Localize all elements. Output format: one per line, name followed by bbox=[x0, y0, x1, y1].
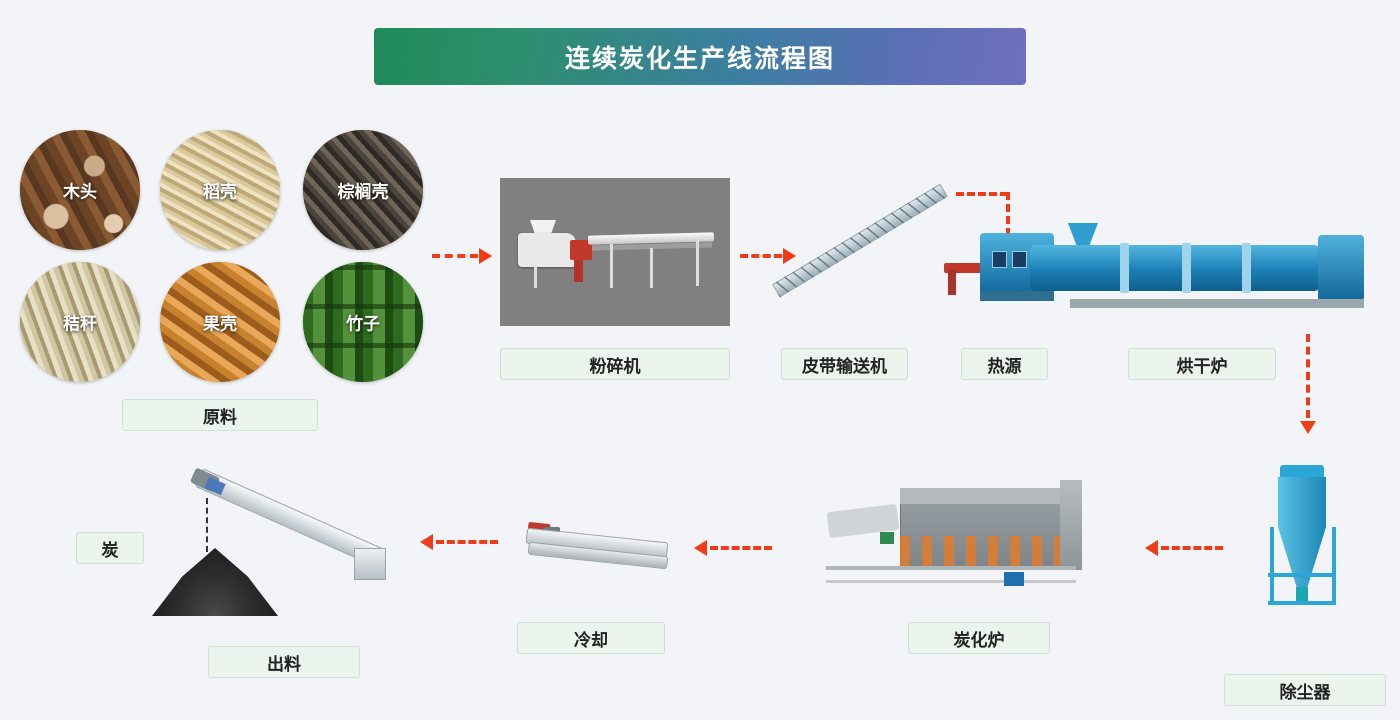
crusher-label: 粉碎机 bbox=[500, 348, 730, 380]
furnace-control-box bbox=[1004, 572, 1024, 586]
raw-material-bamboo: 竹子 bbox=[303, 262, 423, 382]
crusher-motor-stand bbox=[574, 260, 583, 282]
dryer-ring-3 bbox=[1242, 243, 1251, 293]
raw-materials-group-label: 原料 bbox=[122, 399, 318, 431]
furnace-top-band bbox=[900, 488, 1060, 504]
furnace-frame-lower bbox=[826, 580, 1076, 583]
dust-collector-label: 除尘器 bbox=[1224, 674, 1386, 706]
raw-material-straw-label: 秸秆 bbox=[20, 310, 140, 335]
charcoal-label: 炭 bbox=[76, 532, 144, 564]
discharge-outlet-head bbox=[354, 548, 386, 580]
crusher-image bbox=[500, 178, 730, 326]
furnace-burner-stripes bbox=[900, 536, 1060, 566]
carbonization-furnace-image bbox=[808, 480, 1098, 600]
heat-source-burner-stand bbox=[948, 269, 956, 295]
discharge-label: 出料 bbox=[208, 646, 360, 678]
cooling-conveyor-image bbox=[520, 505, 680, 595]
crusher-body bbox=[518, 233, 576, 267]
dust-collector-cylinder bbox=[1278, 477, 1326, 527]
dryer-support-frame bbox=[1070, 299, 1320, 308]
dryer-ring-1 bbox=[1120, 243, 1129, 293]
raw-material-nut-shell: 果壳 bbox=[160, 262, 280, 382]
cooling-label: 冷却 bbox=[517, 622, 665, 654]
dryer-discharge-head bbox=[1318, 235, 1364, 301]
furnace-feed-motor bbox=[880, 532, 894, 544]
discharge-drop-line bbox=[206, 498, 208, 552]
raw-material-nut-shell-label: 果壳 bbox=[160, 310, 280, 335]
heat-source-window-1 bbox=[992, 251, 1007, 268]
heat-source-window-2 bbox=[1012, 251, 1027, 268]
raw-material-wood-label: 木头 bbox=[20, 178, 140, 203]
heat-source-label: 热源 bbox=[961, 348, 1048, 380]
page-title-banner: 连续炭化生产线流程图 bbox=[374, 28, 1026, 85]
raw-material-palm-shell-label: 棕榈壳 bbox=[303, 178, 423, 203]
raw-material-rice-husk-label: 稻壳 bbox=[160, 178, 280, 203]
carbonization-furnace-label: 炭化炉 bbox=[908, 622, 1050, 654]
raw-material-rice-husk: 稻壳 bbox=[160, 130, 280, 250]
dust-collector-discharge bbox=[1296, 587, 1308, 601]
raw-material-straw: 秸秆 bbox=[20, 262, 140, 382]
flowchart-canvas: 连续炭化生产线流程图 木头 稻壳 棕榈壳 秸秆 果壳 竹子 原料 bbox=[0, 0, 1400, 720]
raw-material-bamboo-label: 竹子 bbox=[303, 310, 423, 335]
dryer-drum bbox=[1030, 245, 1320, 291]
dryer-ring-2 bbox=[1182, 243, 1191, 293]
dryer-feed-hopper bbox=[1068, 223, 1098, 245]
heat-source-base bbox=[980, 291, 1054, 301]
page-title: 连续炭化生产线流程图 bbox=[565, 39, 835, 75]
raw-material-wood: 木头 bbox=[20, 130, 140, 250]
dryer-label: 烘干炉 bbox=[1128, 348, 1276, 380]
dust-collector-image bbox=[1258, 465, 1350, 630]
belt-conveyor-label: 皮带输送机 bbox=[781, 348, 908, 380]
dryer-and-heat-source-image bbox=[920, 225, 1390, 330]
furnace-frame-upper bbox=[826, 566, 1076, 570]
dryer-head-base bbox=[1318, 299, 1364, 308]
furnace-discharge-tower bbox=[1060, 480, 1082, 570]
dust-collector-cone bbox=[1278, 527, 1326, 589]
raw-material-palm-shell: 棕榈壳 bbox=[303, 130, 423, 250]
